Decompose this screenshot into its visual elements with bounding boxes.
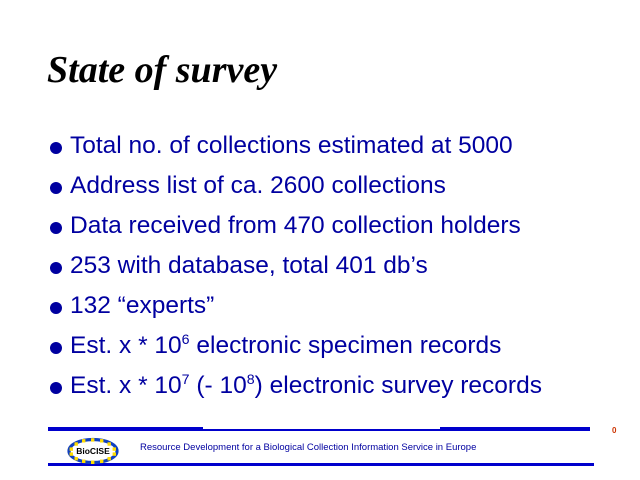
list-item: Est. x * 107 (- 108) electronic survey r…	[50, 371, 630, 411]
page-number: 0	[612, 426, 616, 435]
list-item-label: Est. x * 106 electronic specimen records	[70, 331, 501, 361]
bullet-point-icon	[50, 262, 62, 274]
bullet-point-icon	[50, 222, 62, 234]
presentation-slide: State of survey Total no. of collections…	[0, 0, 640, 480]
list-item: Total no. of collections estimated at 50…	[50, 131, 630, 171]
list-item: Est. x * 106 electronic specimen records	[50, 331, 630, 371]
list-item-label: Data received from 470 collection holder…	[70, 211, 521, 241]
bullet-point-icon	[50, 142, 62, 154]
footer-divider-left	[48, 427, 203, 431]
footer-divider-bottom	[48, 463, 594, 466]
bullet-list: Total no. of collections estimated at 50…	[50, 131, 630, 411]
slide-title: State of survey	[47, 48, 277, 92]
list-item-text-part: ) electronic survey records	[255, 372, 542, 399]
biocise-logo: BioCISE	[66, 437, 120, 465]
list-item-label: Est. x * 107 (- 108) electronic survey r…	[70, 371, 542, 401]
list-item-label: Total no. of collections estimated at 50…	[70, 131, 513, 161]
list-item-text-part: (- 10	[190, 372, 247, 399]
list-item-label: 253 with database, total 401 db’s	[70, 251, 428, 281]
exponent: 7	[182, 372, 190, 388]
bullet-point-icon	[50, 342, 62, 354]
list-item-label: Address list of ca. 2600 collections	[70, 171, 446, 201]
bullet-point-icon	[50, 302, 62, 314]
exponent: 6	[182, 332, 190, 348]
list-item-text-part: Est. x * 10	[70, 372, 182, 399]
bullet-point-icon	[50, 182, 62, 194]
logo-wordmark: BioCISE	[76, 446, 110, 456]
footer-caption: Resource Development for a Biological Co…	[140, 442, 476, 454]
bullet-point-icon	[50, 382, 62, 394]
footer-divider-right	[440, 427, 590, 431]
list-item: Data received from 470 collection holder…	[50, 211, 630, 251]
footer-divider-middle	[203, 429, 440, 431]
list-item-label: 132 “experts”	[70, 291, 214, 321]
exponent: 8	[247, 372, 255, 388]
list-item-text-part: electronic specimen records	[190, 332, 502, 359]
list-item: 132 “experts”	[50, 291, 630, 331]
list-item: 253 with database, total 401 db’s	[50, 251, 630, 291]
list-item: Address list of ca. 2600 collections	[50, 171, 630, 211]
list-item-text-part: Est. x * 10	[70, 332, 182, 359]
